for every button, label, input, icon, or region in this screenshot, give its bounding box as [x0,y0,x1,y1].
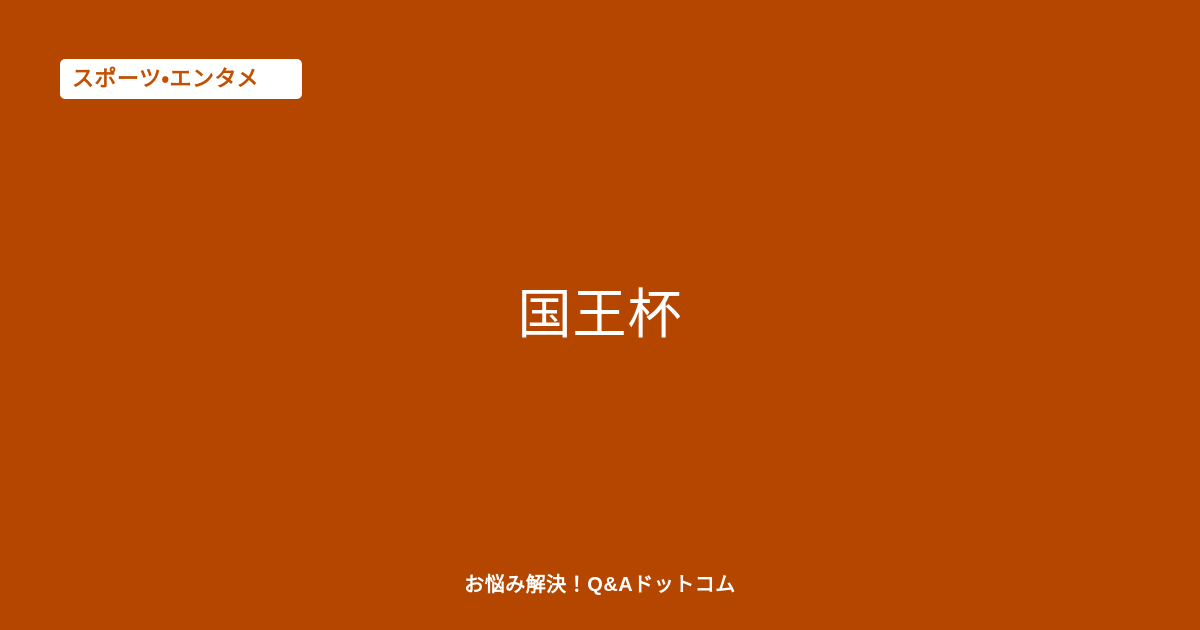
footer: お悩み解決！Q&Aドットコム [0,575,1200,596]
category-badge-label: スポーツ・エンタメ [72,68,289,90]
category-badge[interactable]: スポーツ・エンタメ [60,59,302,99]
site-name: お悩み解決！Q&Aドットコム [464,574,735,596]
page-title: 国王杯 [518,280,683,350]
ogp-card: スポーツ・エンタメ 国王杯 お悩み解決！Q&Aドットコム [0,0,1200,630]
